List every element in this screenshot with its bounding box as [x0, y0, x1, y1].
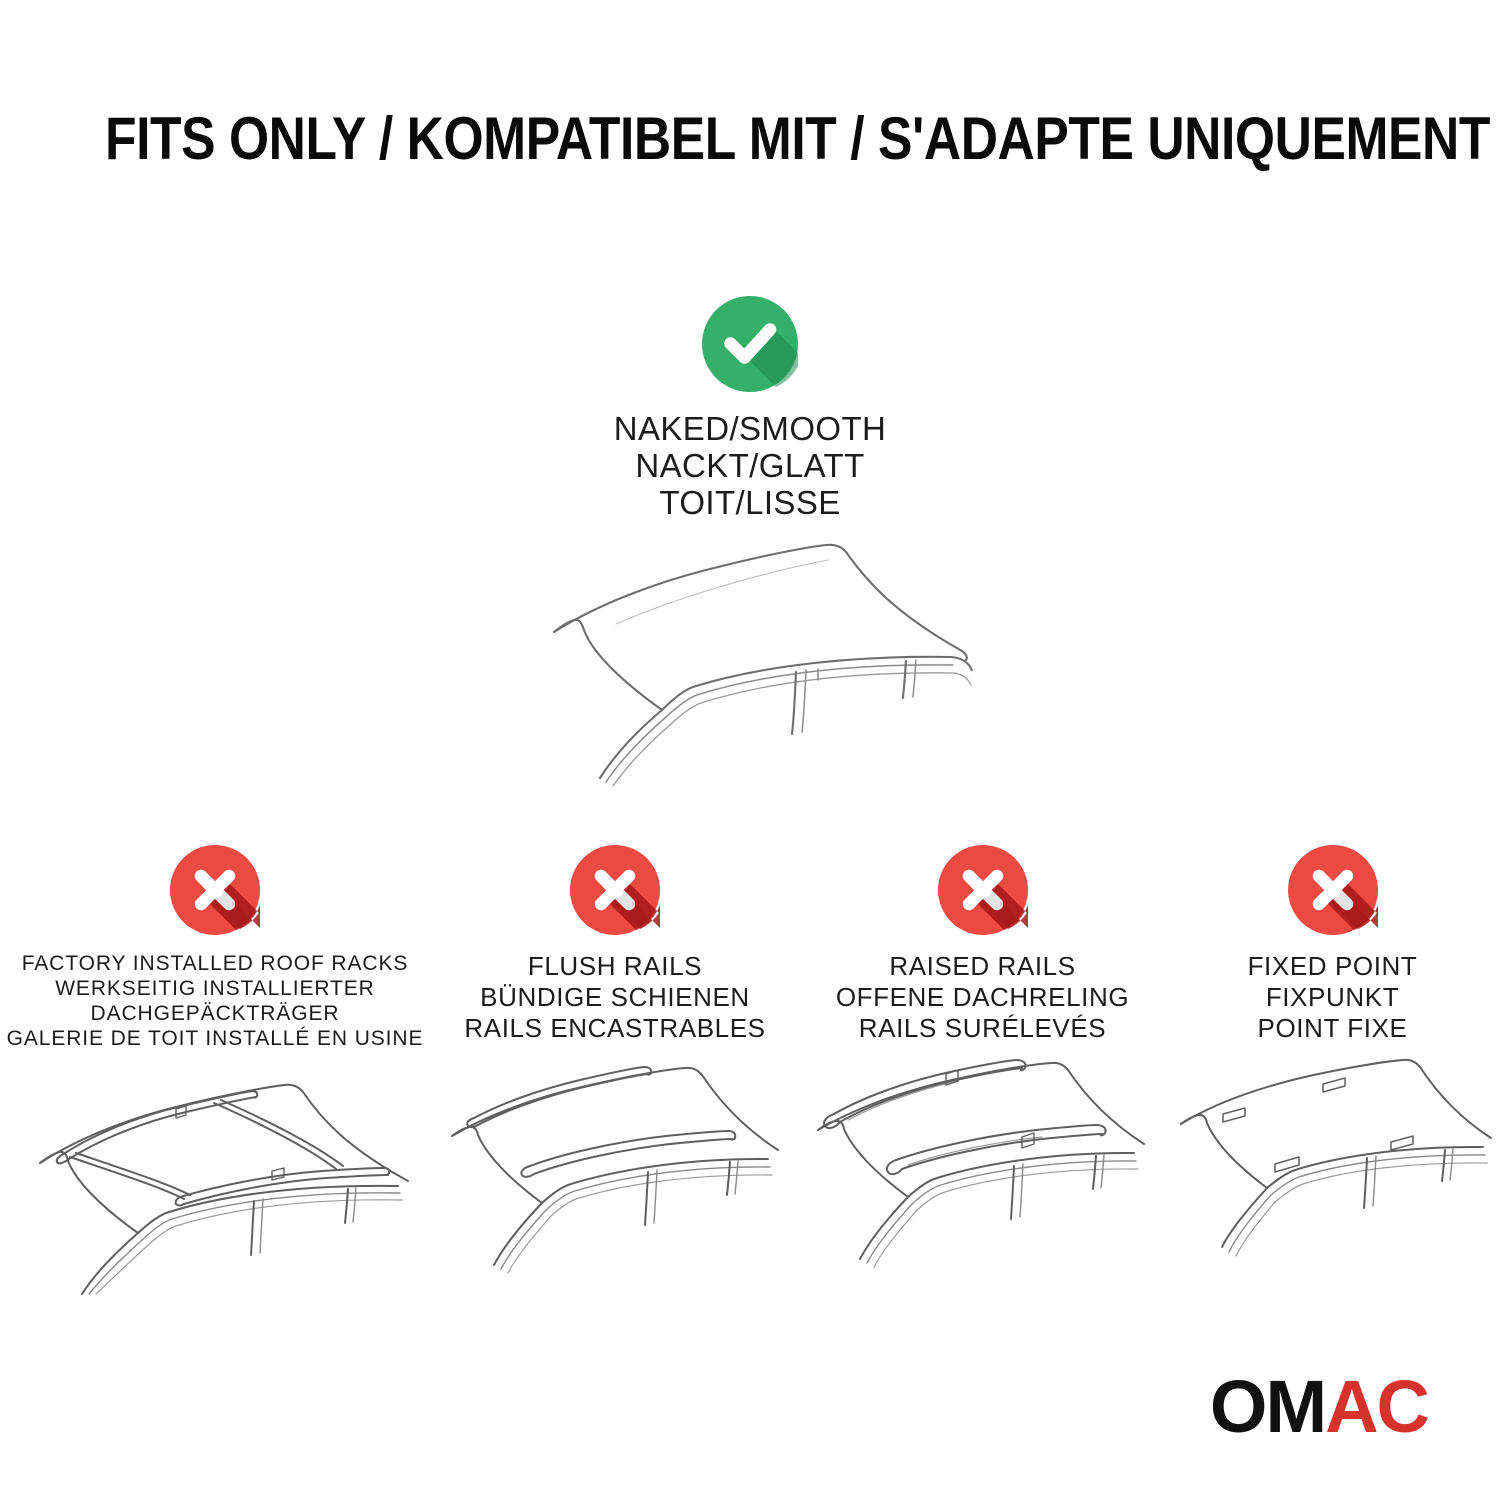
label-line-de: OFFENE DACHRELING — [836, 982, 1129, 1013]
compatible-labels: NAKED/SMOOTH NACKT/GLATT TOIT/LISSE — [614, 410, 887, 521]
cross-icon — [170, 845, 260, 935]
roof-illustration-raised-rails — [800, 1058, 1165, 1288]
label-line-fr: RAILS SURÉLEVÉS — [836, 1013, 1129, 1044]
label-line-de: FIXPUNKT — [1248, 982, 1418, 1013]
compatible-section: NAKED/SMOOTH NACKT/GLATT TOIT/LISSE — [0, 296, 1500, 521]
label-line-de-2: DACHGEPÄCKTRÄGER — [7, 1001, 424, 1026]
roof-illustration-naked-smooth — [496, 520, 1016, 800]
incompatible-item-factory-racks: FACTORY INSTALLED ROOF RACKS WERKSEITIG … — [0, 845, 430, 1295]
roof-illustration-flush-rails — [430, 1058, 800, 1288]
label-line-fr: RAILS ENCASTRABLES — [464, 1013, 765, 1044]
compatible-label-de: NACKT/GLATT — [614, 447, 887, 484]
incompatible-labels: FACTORY INSTALLED ROOF RACKS WERKSEITIG … — [7, 951, 424, 1051]
fitment-infographic: FITS ONLY / KOMPATIBEL MIT / S'ADAPTE UN… — [0, 0, 1500, 1500]
label-line-en: FACTORY INSTALLED ROOF RACKS — [7, 951, 424, 976]
compatible-label-en: NAKED/SMOOTH — [614, 410, 887, 447]
roof-illustration-fixed-point — [1165, 1058, 1500, 1288]
label-line-en: FLUSH RAILS — [464, 951, 765, 982]
incompatible-labels: RAISED RAILS OFFENE DACHRELING RAILS SUR… — [836, 951, 1129, 1044]
label-line-en: FIXED POINT — [1248, 951, 1418, 982]
label-line-de-1: WERKSEITIG INSTALLIERTER — [7, 976, 424, 1001]
cross-icon — [570, 845, 660, 935]
page-title: FITS ONLY / KOMPATIBEL MIT / S'ADAPTE UN… — [105, 104, 1395, 173]
cross-icon — [938, 845, 1028, 935]
cross-icon — [1288, 845, 1378, 935]
label-line-fr: GALERIE DE TOIT INSTALLÉ EN USINE — [7, 1026, 424, 1051]
check-icon — [702, 296, 798, 392]
incompatible-item-flush-rails: FLUSH RAILS BÜNDIGE SCHIENEN RAILS ENCAS… — [430, 845, 800, 1288]
logo-text-ac: AC — [1325, 1370, 1428, 1444]
incompatible-section: FACTORY INSTALLED ROOF RACKS WERKSEITIG … — [0, 845, 1500, 1325]
incompatible-item-fixed-point: FIXED POINT FIXPUNKT POINT FIXE — [1165, 845, 1500, 1288]
label-line-fr: POINT FIXE — [1248, 1013, 1418, 1044]
incompatible-labels: FLUSH RAILS BÜNDIGE SCHIENEN RAILS ENCAS… — [464, 951, 765, 1044]
label-line-de: BÜNDIGE SCHIENEN — [464, 982, 765, 1013]
label-line-en: RAISED RAILS — [836, 951, 1129, 982]
incompatible-labels: FIXED POINT FIXPUNKT POINT FIXE — [1248, 951, 1418, 1044]
logo-text-om: OM — [1210, 1370, 1325, 1444]
brand-logo: OMAC — [1210, 1370, 1428, 1444]
incompatible-item-raised-rails: RAISED RAILS OFFENE DACHRELING RAILS SUR… — [800, 845, 1165, 1288]
compatible-label-fr: TOIT/LISSE — [614, 484, 887, 521]
roof-illustration-factory-racks — [0, 1065, 430, 1295]
